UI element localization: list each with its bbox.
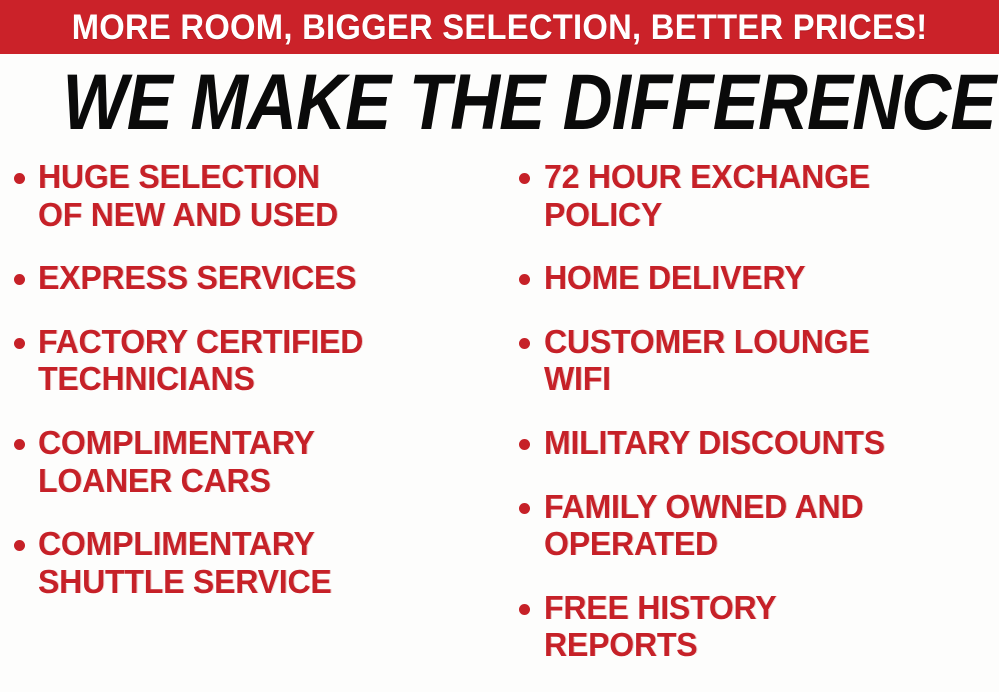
list-item-line: REPORTS <box>544 626 985 664</box>
list-item-label: 72 HOUR EXCHANGE POLICY <box>544 158 985 233</box>
list-item-line: POLICY <box>544 196 985 234</box>
bullet-dot-icon <box>14 274 25 285</box>
list-item-line: HUGE SELECTION <box>38 158 491 196</box>
list-item: COMPLIMENTARY SHUTTLE SERVICE <box>14 525 505 600</box>
list-item-label: FREE HISTORY REPORTS <box>544 589 985 664</box>
list-item-line: FREE HISTORY <box>544 589 985 627</box>
list-item-label: FACTORY CERTIFIED TECHNICIANS <box>38 323 491 398</box>
list-item-line: COMPLIMENTARY <box>38 525 491 563</box>
bullet-dot-icon <box>519 503 530 514</box>
benefits-columns: HUGE SELECTION OF NEW AND USED EXPRESS S… <box>0 158 999 688</box>
list-item-label: HUGE SELECTION OF NEW AND USED <box>38 158 491 233</box>
list-item-label: COMPLIMENTARY LOANER CARS <box>38 424 491 499</box>
list-item-line: HOME DELIVERY <box>544 259 985 297</box>
list-item: COMPLIMENTARY LOANER CARS <box>14 424 505 499</box>
list-item: FAMILY OWNED AND OPERATED <box>519 488 999 563</box>
list-item-line: WIFI <box>544 360 985 398</box>
list-item-line: SHUTTLE SERVICE <box>38 563 491 601</box>
list-item-line: FACTORY CERTIFIED <box>38 323 491 361</box>
benefits-column-left: HUGE SELECTION OF NEW AND USED EXPRESS S… <box>0 158 505 688</box>
list-item-label: MILITARY DISCOUNTS <box>544 424 985 462</box>
bullet-dot-icon <box>14 439 25 450</box>
list-item-line: COMPLIMENTARY <box>38 424 491 462</box>
list-item-line: EXPRESS SERVICES <box>38 259 491 297</box>
bullet-dot-icon <box>14 338 25 349</box>
list-item-label: FAMILY OWNED AND OPERATED <box>544 488 985 563</box>
list-item-label: CUSTOMER LOUNGE WIFI <box>544 323 985 398</box>
list-item: HOME DELIVERY <box>519 259 999 297</box>
list-item-label: COMPLIMENTARY SHUTTLE SERVICE <box>38 525 491 600</box>
list-item-line: 72 HOUR EXCHANGE <box>544 158 985 196</box>
list-item-line: MILITARY DISCOUNTS <box>544 424 985 462</box>
list-item: FACTORY CERTIFIED TECHNICIANS <box>14 323 505 398</box>
bullet-dot-icon <box>519 173 530 184</box>
list-item-line: LOANER CARS <box>38 462 491 500</box>
bullet-dot-icon <box>519 274 530 285</box>
list-item-line: TECHNICIANS <box>38 360 491 398</box>
list-item: CUSTOMER LOUNGE WIFI <box>519 323 999 398</box>
list-item: FREE HISTORY REPORTS <box>519 589 999 664</box>
benefits-column-right: 72 HOUR EXCHANGE POLICY HOME DELIVERY CU… <box>505 158 999 688</box>
top-announcement-text: MORE ROOM, BIGGER SELECTION, BETTER PRIC… <box>72 10 928 45</box>
promotional-banner: MORE ROOM, BIGGER SELECTION, BETTER PRIC… <box>0 0 999 692</box>
list-item: 72 HOUR EXCHANGE POLICY <box>519 158 999 233</box>
list-item-line: OPERATED <box>544 525 985 563</box>
list-item-label: HOME DELIVERY <box>544 259 985 297</box>
bullet-dot-icon <box>519 604 530 615</box>
bullet-dot-icon <box>519 439 530 450</box>
list-item-line: FAMILY OWNED AND <box>544 488 985 526</box>
list-item-line: OF NEW AND USED <box>38 196 491 234</box>
list-item: MILITARY DISCOUNTS <box>519 424 999 462</box>
list-item-label: EXPRESS SERVICES <box>38 259 491 297</box>
bullet-dot-icon <box>519 338 530 349</box>
bullet-dot-icon <box>14 540 25 551</box>
bullet-dot-icon <box>14 173 25 184</box>
list-item: EXPRESS SERVICES <box>14 259 505 297</box>
top-announcement-strip: MORE ROOM, BIGGER SELECTION, BETTER PRIC… <box>0 0 999 54</box>
list-item-line: CUSTOMER LOUNGE <box>544 323 985 361</box>
page-title: WE MAKE THE DIFFERENCE <box>62 62 936 141</box>
list-item: HUGE SELECTION OF NEW AND USED <box>14 158 505 233</box>
